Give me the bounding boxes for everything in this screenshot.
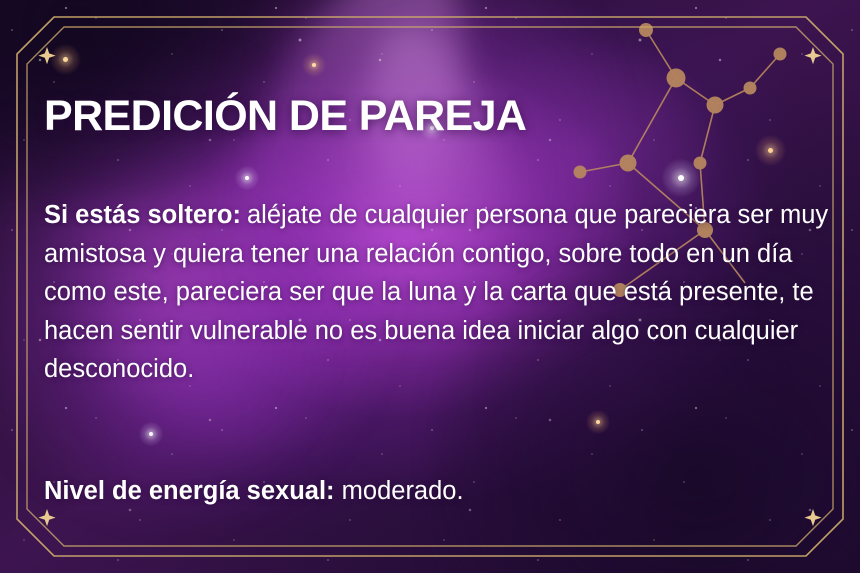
page-title: PREDICIÓN DE PAREJA	[44, 92, 526, 141]
prediction-paragraph: Si estás soltero:aléjate de cualquier pe…	[44, 196, 834, 389]
prediction-card: PREDICIÓN DE PAREJA Si estás soltero:alé…	[0, 0, 860, 573]
energy-label: Nivel de energía sexual:	[44, 477, 335, 505]
energy-value: moderado.	[342, 477, 464, 505]
paragraph-label: Si estás soltero:	[44, 201, 241, 229]
energy-level: Nivel de energía sexual: moderado.	[44, 474, 464, 508]
card-content: PREDICIÓN DE PAREJA Si estás soltero:alé…	[44, 0, 820, 573]
